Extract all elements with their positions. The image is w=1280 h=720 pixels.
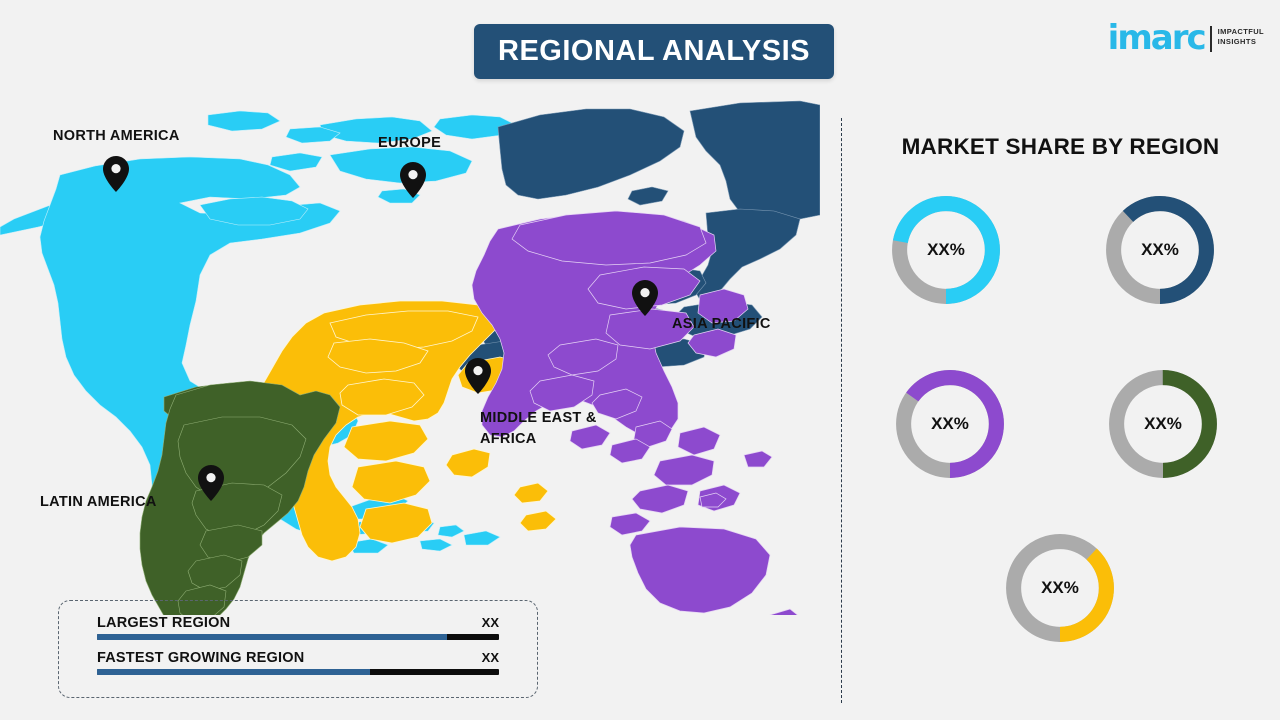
map-pin-latin-america[interactable] [198,465,224,501]
map-label-latin-america: LATIN AMERICA [40,492,157,513]
page-title-banner: REGIONAL ANALYSIS [474,24,834,79]
page-title: REGIONAL ANALYSIS [498,35,810,68]
donut-value-label: XX% [888,240,1004,260]
legend-progress-bar [97,634,499,640]
donut-chart-asia-pacific: XX% [892,366,1008,482]
donut-chart-middle-east-africa: XX% [1002,530,1118,646]
legend-value: XX [482,615,499,630]
donut-value-label: XX% [1102,240,1218,260]
logo-tagline-line1: IMPACTFUL [1218,27,1264,37]
legend-row-largest-region: LARGEST REGION XX [97,615,499,640]
logo-wordmark: imarc [1108,22,1205,54]
donut-chart-north-america: XX% [888,192,1004,308]
logo-divider [1210,26,1212,52]
donut-chart-latin-america: XX% [1105,366,1221,482]
donut-value-label: XX% [1002,578,1118,598]
map-pin-middle-east-africa[interactable] [465,358,491,394]
legend-progress-fill [97,669,370,675]
logo-tagline: IMPACTFUL INSIGHTS [1218,22,1264,47]
map-pin-north-america[interactable] [103,156,129,192]
legend-label: LARGEST REGION [97,615,230,631]
logo-tagline-line2: INSIGHTS [1218,37,1264,47]
donut-value-label: XX% [1105,414,1221,434]
legend-label: FASTEST GROWING REGION [97,650,304,666]
map-label-europe: EUROPE [378,133,441,154]
donut-chart-europe: XX% [1102,192,1218,308]
section-divider [841,118,842,703]
imarc-logo: imarc IMPACTFUL INSIGHTS [1108,22,1264,54]
legend-row-fastest-growing-region: FASTEST GROWING REGION XX [97,650,499,675]
map-label-middle-east-africa: MIDDLE EAST & AFRICA [480,408,597,450]
map-label-asia-pacific: ASIA PACIFIC [672,314,771,335]
map-label-north-america: NORTH AMERICA [53,126,180,147]
map-pin-asia-pacific[interactable] [632,280,658,316]
donut-value-label: XX% [892,414,1008,434]
legend-value: XX [482,650,499,665]
region-legend-box: LARGEST REGION XX FASTEST GROWING REGION… [58,600,538,698]
legend-progress-bar [97,669,499,675]
map-pin-europe[interactable] [400,162,426,198]
chart-title: MARKET SHARE BY REGION [841,134,1280,160]
legend-progress-fill [97,634,447,640]
